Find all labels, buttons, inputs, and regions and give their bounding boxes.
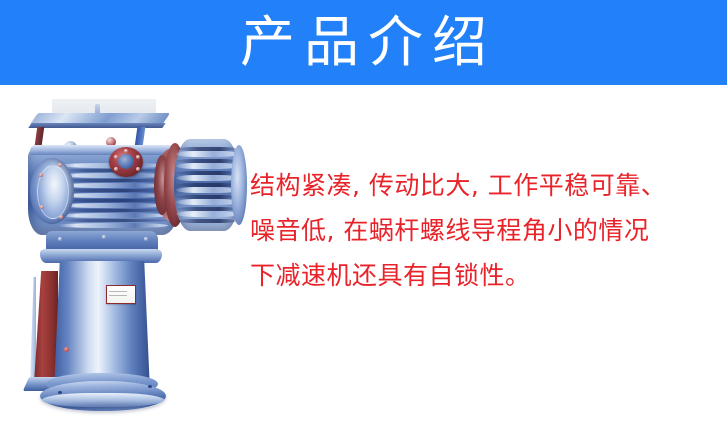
bolt-icon: [114, 167, 118, 171]
bolt-icon: [144, 237, 148, 241]
nameplate-text-line: [109, 295, 127, 296]
product-description: 结构紧凑, 传动比大, 工作平稳可靠、 噪音低, 在蜗杆螺线导程角小的情况 下减…: [250, 163, 720, 298]
housing-neck-lip: [40, 249, 162, 263]
bolt-icon: [114, 155, 118, 159]
pulley-rib: [176, 211, 238, 217]
header-banner: 产品介绍: [0, 0, 727, 85]
bolt-icon: [39, 173, 43, 177]
base-support-rib: [34, 271, 58, 383]
gearbox-housing-top-lip: [30, 145, 176, 155]
bolt-icon: [136, 167, 140, 171]
bolt-icon: [102, 235, 106, 239]
bolt-icon: [124, 149, 128, 153]
mounting-hole-icon: [58, 391, 62, 394]
product-image: [6, 85, 246, 405]
cooling-fin: [58, 213, 168, 218]
cooling-fin: [58, 223, 168, 228]
cooling-fin-gap: [58, 209, 168, 212]
cooling-fin-gap: [58, 199, 168, 202]
description-line-1: 结构紧凑, 传动比大, 工作平稳可靠、: [250, 163, 720, 208]
pulley-rib: [176, 175, 238, 181]
description-line-2: 噪音低, 在蜗杆螺线导程角小的情况: [250, 208, 720, 253]
red-flange-hub: [118, 154, 134, 169]
cooling-fin-gap: [58, 189, 168, 192]
bolt-icon: [64, 347, 69, 352]
bolt-icon: [58, 237, 62, 241]
bolt-icon: [136, 155, 140, 159]
pulley-rib: [176, 199, 238, 205]
cooling-fin: [58, 203, 168, 208]
cooling-fin-gap: [58, 179, 168, 182]
pulley-groove: [176, 219, 238, 223]
cooling-fin: [58, 183, 168, 188]
pulley-rib: [176, 151, 238, 157]
bolt-icon: [58, 163, 62, 167]
cooling-fin: [58, 193, 168, 198]
pulley-rib: [176, 187, 238, 193]
nameplate-text-line: [109, 291, 127, 292]
cooling-fin: [58, 173, 168, 178]
bolt-icon: [40, 205, 44, 209]
product-introduction-page: 产品介绍: [0, 0, 727, 427]
description-line-3: 下减速机还具有自锁性。: [250, 253, 720, 298]
top-plate-right-leg: [135, 127, 146, 147]
pedestal-column: [54, 261, 150, 391]
mounting-hole-icon: [148, 385, 152, 388]
bolt-icon: [59, 215, 63, 219]
ground-shadow: [52, 401, 162, 411]
pulley-outer-rim-face: [231, 145, 247, 225]
cooling-fin-gap: [58, 219, 168, 222]
page-title: 产品介绍: [0, 6, 727, 78]
top-plate-left-leg: [35, 127, 45, 145]
pulley-rib: [176, 163, 238, 169]
